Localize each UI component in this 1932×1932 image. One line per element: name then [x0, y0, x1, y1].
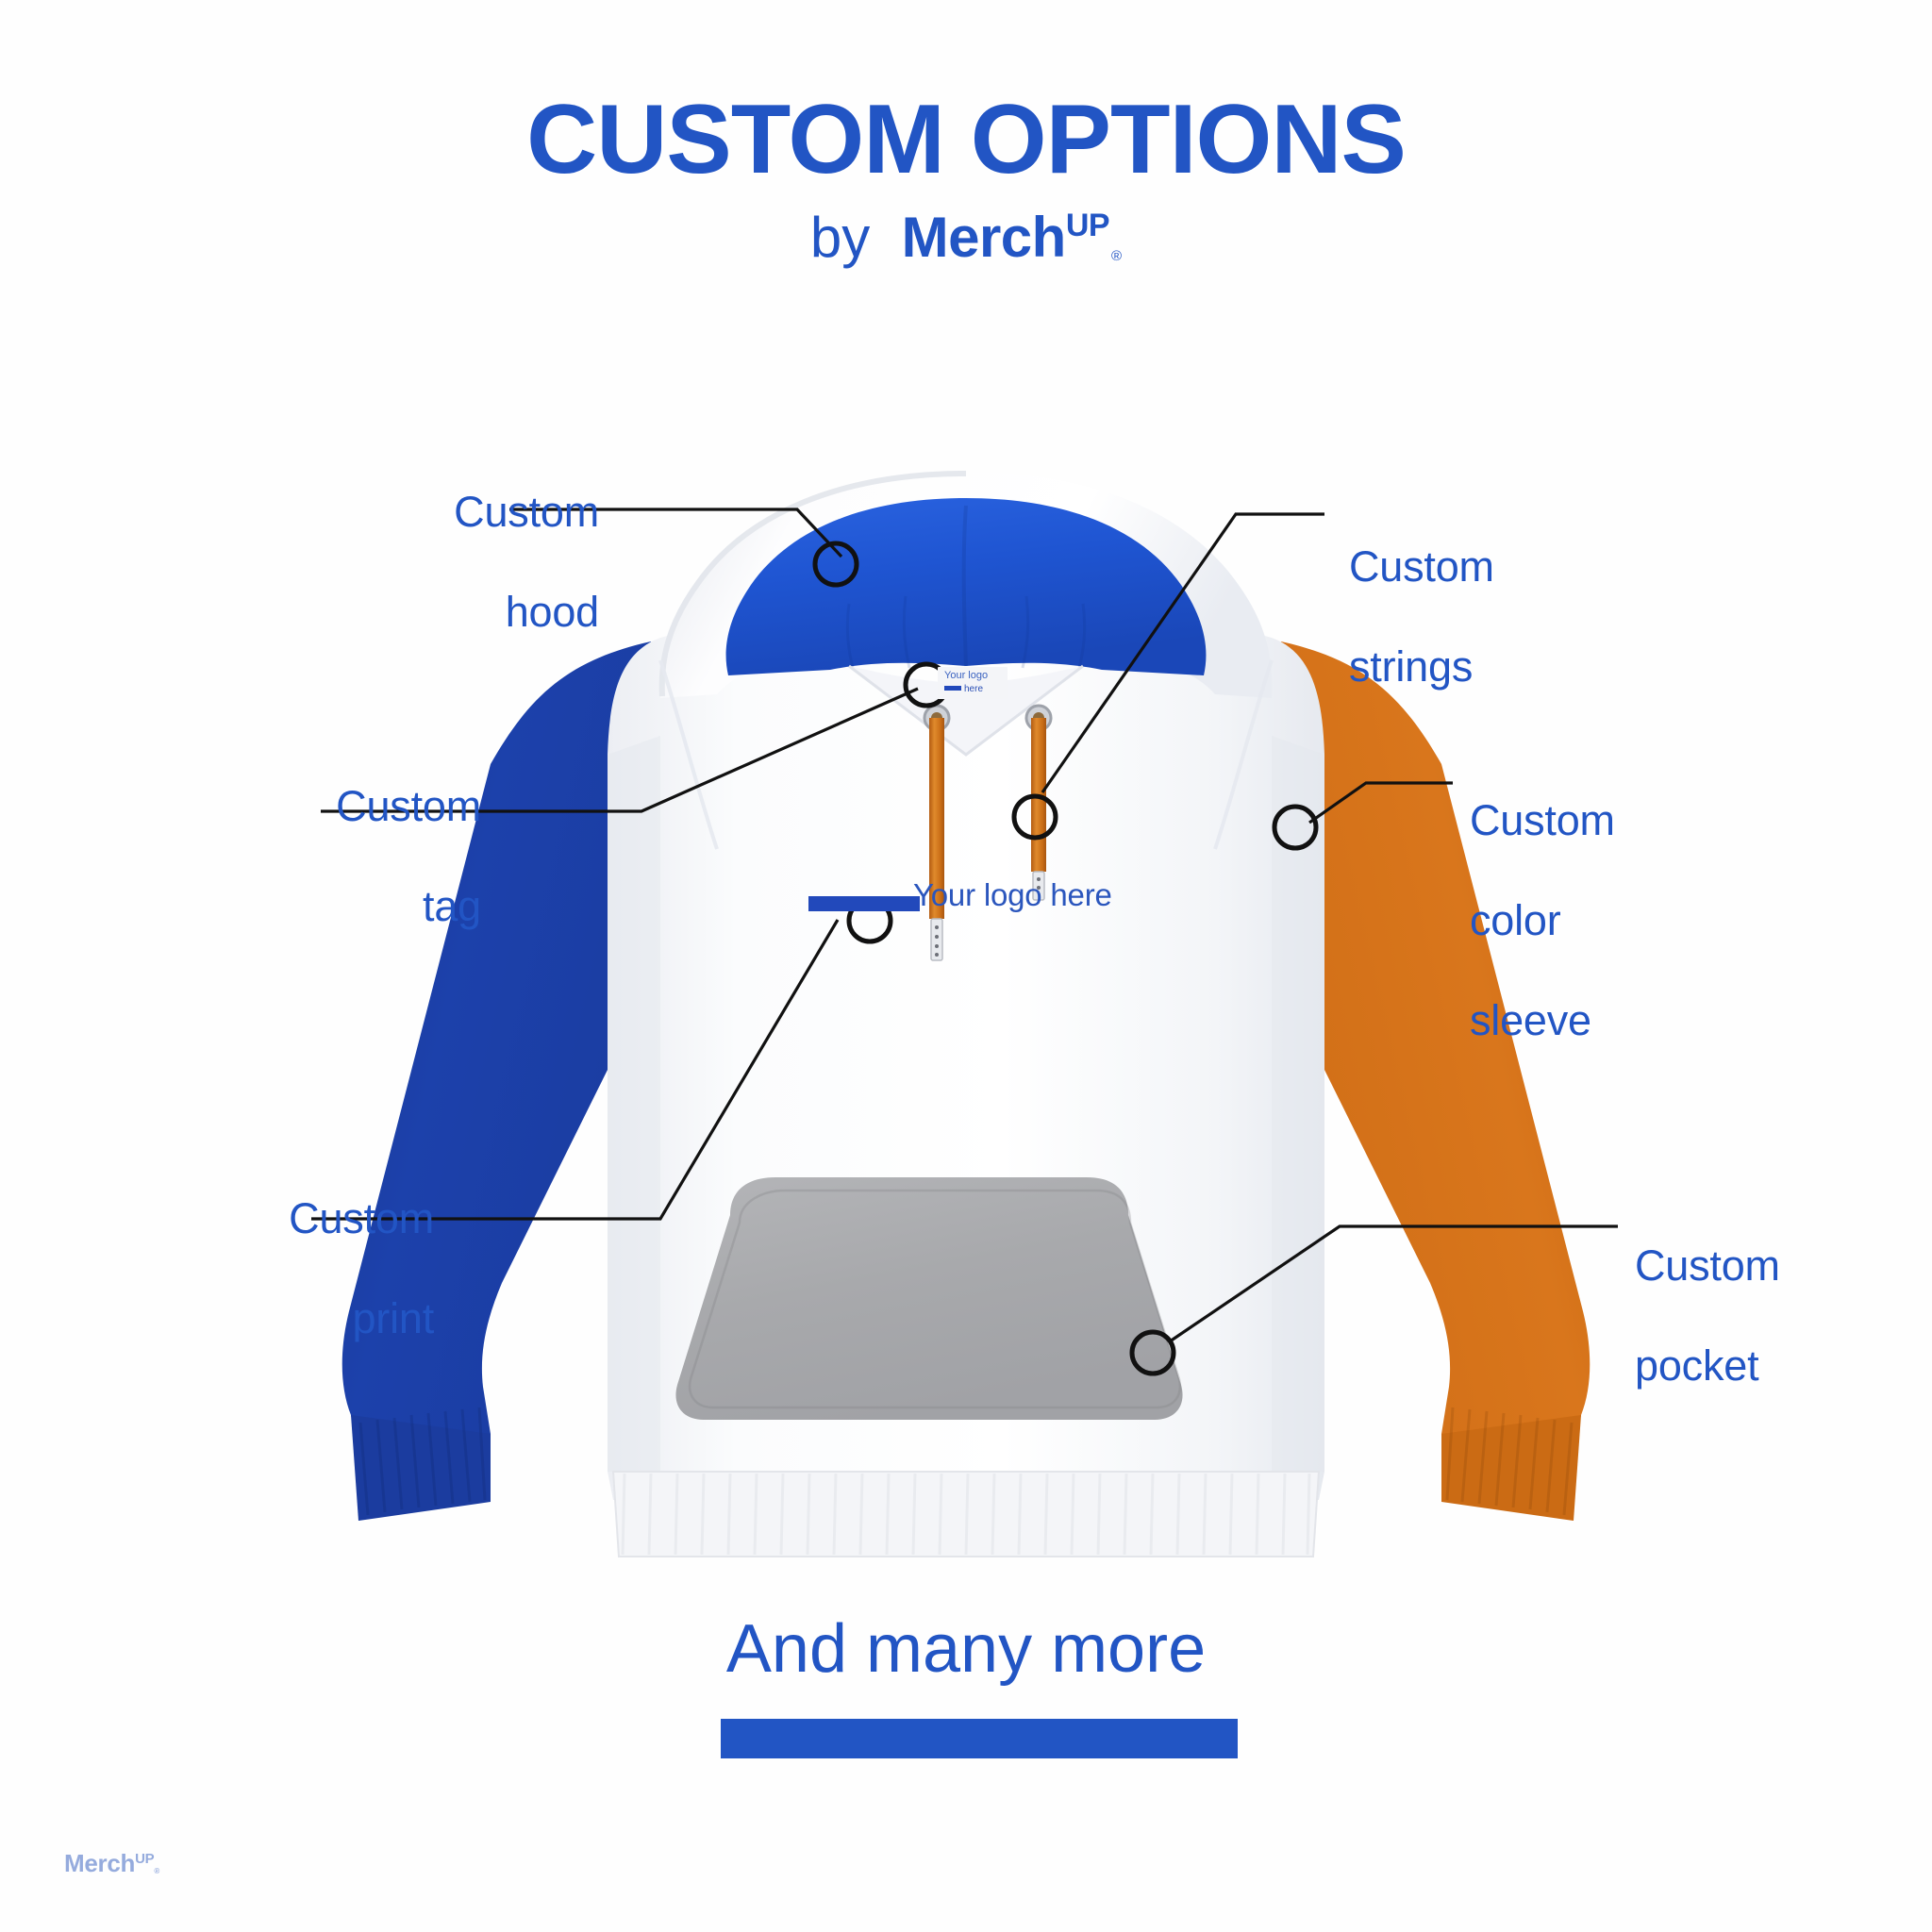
callout-custom-color-sleeve-line3: sleeve: [1470, 995, 1866, 1045]
endpoint-custom-strings: [1014, 796, 1056, 838]
right-cuff: [1441, 1415, 1581, 1521]
callout-custom-color-sleeve-line2: color: [1470, 895, 1866, 945]
callout-label-custom-pocket: Custom pocket: [1635, 1191, 1932, 1441]
callout-label-custom-color-sleeve: Custom color sleeve: [1470, 745, 1866, 1096]
callout-label-custom-tag: Custom tag: [170, 731, 481, 981]
callout-custom-color-sleeve-line1: Custom: [1470, 795, 1866, 845]
footer-watermark-logo: MerchUP®: [64, 1851, 159, 1875]
callout-label-custom-hood: Custom hood: [288, 437, 599, 687]
left-aglet: [931, 919, 942, 960]
callout-custom-pocket-line1: Custom: [1635, 1241, 1932, 1291]
callout-label-custom-strings: Custom strings: [1349, 491, 1745, 741]
hood-lining-pleats: [847, 596, 1084, 668]
neck-tag-label: Your logo here: [938, 667, 1008, 699]
brand-name: Merch: [902, 206, 1066, 269]
watermark-up-mark: UP: [135, 1851, 154, 1867]
subtitle-by-word: by: [810, 206, 870, 269]
callout-custom-strings-line1: Custom: [1349, 541, 1745, 591]
left-eyelet: [924, 706, 949, 730]
hoodie-body: [608, 631, 1324, 1500]
registered-trademark-icon: ®: [1111, 248, 1122, 264]
footer-accent-bar: [721, 1719, 1238, 1758]
callout-custom-strings-line2: strings: [1349, 641, 1745, 691]
left-cuff: [351, 1415, 491, 1521]
callout-custom-hood-line2: hood: [288, 587, 599, 637]
neck-tag-line1: Your logo: [944, 671, 988, 681]
brand-up-mark: UP: [1066, 208, 1109, 243]
watermark-brand-name: Merch: [64, 1849, 135, 1877]
hood-outer: [660, 472, 1273, 698]
footer-cta-text: And many more: [0, 1615, 1932, 1683]
callout-custom-pocket-line2: pocket: [1635, 1341, 1932, 1391]
left-cuff-ribs: [360, 1407, 485, 1515]
callout-custom-hood-line1: Custom: [288, 487, 599, 537]
left-eyelet-hole: [931, 712, 942, 724]
callout-endpoint-circles: [815, 543, 1316, 1374]
leader-custom-strings: [1042, 514, 1324, 792]
neck-tag-line2: here: [964, 685, 983, 694]
leader-custom-color-sleeve: [1309, 783, 1453, 823]
waist-rib: [613, 1472, 1319, 1557]
brand-subtitle: by MerchUP®: [0, 209, 1932, 266]
pocket-stitch: [690, 1191, 1180, 1407]
callout-custom-print-line1: Custom: [123, 1193, 434, 1243]
watermark-registered-icon: ®: [154, 1867, 159, 1875]
chest-print-text: Your logo here: [913, 879, 1112, 910]
callout-custom-tag-line2: tag: [170, 881, 481, 931]
right-cuff-ribs: [1447, 1407, 1572, 1515]
right-shoulder-seam: [1215, 660, 1272, 849]
callout-custom-tag-line1: Custom: [170, 781, 481, 831]
left-aglet-dots: [935, 925, 939, 957]
callout-custom-print-line2: print: [123, 1293, 434, 1343]
body-shadow-right: [1272, 736, 1324, 1472]
right-drawstring: [1031, 718, 1046, 872]
chest-print-bar: [808, 896, 920, 911]
hood-lining-fold: [964, 506, 966, 666]
endpoint-custom-color-sleeve: [1274, 807, 1316, 848]
page-title: CUSTOM OPTIONS: [0, 91, 1932, 189]
waist-rib-lines: [623, 1474, 1309, 1555]
endpoint-custom-pocket: [1132, 1332, 1174, 1374]
endpoint-custom-hood: [815, 543, 857, 585]
left-shoulder-seam: [660, 660, 717, 849]
right-eyelet-hole: [1033, 712, 1044, 724]
body-shadow-left: [608, 736, 660, 1472]
hood-lining: [726, 498, 1207, 675]
neck-tag-bar: [944, 686, 961, 691]
poster-canvas: CUSTOM OPTIONS by MerchUP®: [0, 0, 1932, 1932]
hood-edge-highlight: [662, 474, 966, 696]
right-eyelet: [1026, 706, 1051, 730]
leader-custom-pocket: [1170, 1226, 1618, 1341]
callout-label-custom-print: Custom print: [123, 1143, 434, 1393]
kangaroo-pocket: [675, 1177, 1182, 1420]
